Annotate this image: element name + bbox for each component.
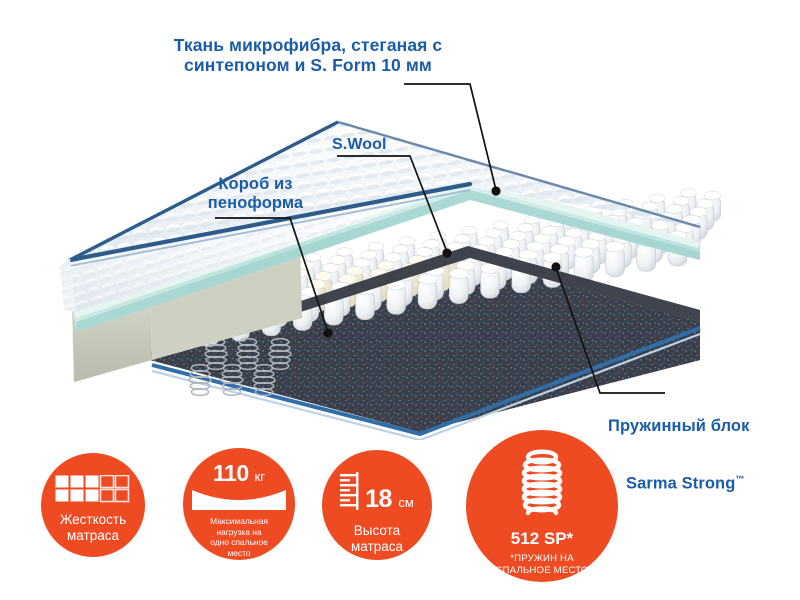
spring-count-sub: *ПРУЖИН НА СПАЛЬНОЕ МЕСТО — [479, 553, 605, 577]
spring-count-value: 512 SP* — [511, 529, 573, 549]
firmness-caption: Жесткость матраса — [60, 512, 126, 544]
height-caption: Высота матраса — [351, 523, 403, 555]
badge-max-load: 110 кг Максимальная нагрузка на одно спа… — [183, 448, 295, 560]
max-load-value: 110 кг — [213, 460, 265, 487]
badge-firmness: Жесткость матраса — [41, 453, 145, 557]
callout-spring-block-label: Пружинный блок Sarma Strong™ — [608, 398, 798, 512]
trademark-symbol: ™ — [735, 474, 744, 484]
firmness-blocks-icon — [55, 475, 131, 503]
max-load-sub: Максимальная нагрузка на одно спальное м… — [193, 516, 285, 558]
spring-block-line2: Sarma Strong — [626, 474, 735, 492]
callout-fabric-label: Ткань микрофибра, стеганая с синтепоном … — [128, 35, 488, 75]
load-arc-icon — [190, 488, 288, 512]
spring-block-line1: Пружинный блок — [608, 417, 798, 436]
height-value: 18 см — [365, 487, 414, 512]
callout-swool-label: S.Wool — [332, 136, 442, 154]
badge-spring-count: 512 SP* *ПРУЖИН НА СПАЛЬНОЕ МЕСТО — [466, 430, 618, 582]
callout-foam-box-label: Короб из пеноформа — [188, 175, 323, 213]
ruler-icon — [340, 472, 360, 512]
coil-spring-icon — [510, 447, 574, 521]
badge-height: 18 см Высота матраса — [322, 450, 432, 560]
